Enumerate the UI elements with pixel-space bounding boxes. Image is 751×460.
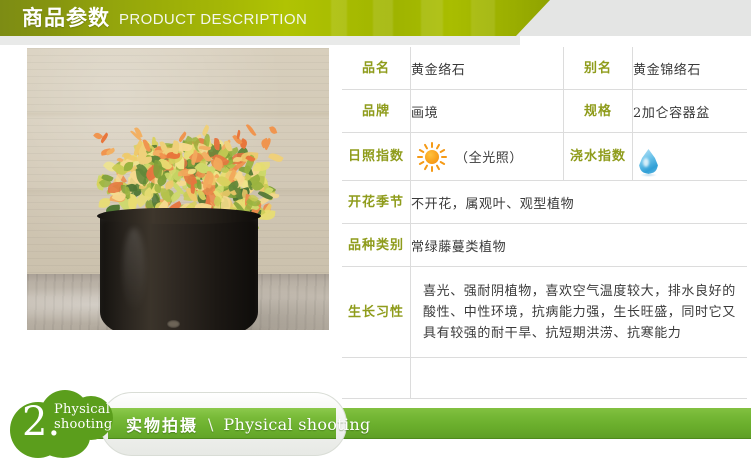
spec-value-name: 黄金络石 <box>411 47 564 90</box>
pot-rim <box>97 208 261 224</box>
spec-value-alias: 黄金锦络石 <box>633 47 748 90</box>
table-row: 品名 黄金络石 别名 黄金锦络石 <box>342 47 747 90</box>
spec-label-spec: 规格 <box>564 90 633 133</box>
banner-badge: 2. Physical shooting <box>6 390 132 458</box>
table-row: 生长习性 喜光、强耐阴植物，喜欢空气温度较大，排水良好的酸性、中性环境，抗病能力… <box>342 267 747 358</box>
spec-label-growth-habit: 生长习性 <box>342 267 411 358</box>
pot-highlight <box>123 228 145 314</box>
banner-label-en: Physical shooting <box>223 415 370 434</box>
banner-label: 实物拍摄 \ Physical shooting <box>126 412 371 436</box>
growth-habit-text: 喜光、强耐阴植物，喜欢空气温度较大，排水良好的酸性、中性环境，抗病能力强，生长旺… <box>411 277 747 348</box>
spec-value-bloom-season: 不开花，属观叶、观型植物 <box>411 181 748 224</box>
spec-label-category: 品种类别 <box>342 224 411 267</box>
spec-value-sunlight: （全光照） <box>411 133 564 181</box>
spec-label-alias: 别名 <box>564 47 633 90</box>
product-spec-table: 品名 黄金络石 别名 黄金锦络石 品牌 画境 规格 2加仑容器盆 日照指数 <box>342 47 747 399</box>
header-divider-right-gap <box>520 36 751 45</box>
spec-label-watering: 浇水指数 <box>564 133 633 181</box>
sun-icon <box>417 142 447 172</box>
spec-value-category: 常绿藤蔓类植物 <box>411 224 748 267</box>
table-row: 品种类别 常绿藤蔓类植物 <box>342 224 747 267</box>
spec-value-watering <box>633 133 748 181</box>
spec-label-brand: 品牌 <box>342 90 411 133</box>
spec-label-bloom-season: 开花季节 <box>342 181 411 224</box>
table-row: 品牌 画境 规格 2加仑容器盆 <box>342 90 747 133</box>
banner-label-slash: \ <box>208 415 213 434</box>
product-photo <box>27 48 329 330</box>
pot-drain-hole <box>167 320 180 328</box>
spec-value-brand: 画境 <box>411 90 564 133</box>
section-banner-physical-shooting: 2. Physical shooting 实物拍摄 \ Physical sho… <box>0 388 751 460</box>
banner-badge-subtitle: Physical shooting <box>54 402 132 432</box>
sunlight-note: （全光照） <box>455 147 523 166</box>
spec-value-spec: 2加仑容器盆 <box>633 90 748 133</box>
spec-label-sunlight: 日照指数 <box>342 133 411 181</box>
banner-badge-line2: shooting <box>54 417 112 432</box>
spec-value-growth-habit: 喜光、强耐阴植物，喜欢空气温度较大，排水良好的酸性、中性环境，抗病能力强，生长旺… <box>411 267 748 358</box>
page-title-cn: 商品参数 <box>22 8 110 29</box>
banner-badge-line1: Physical <box>54 402 110 417</box>
table-row: 日照指数 （全光照） 浇水指数 <box>342 133 747 181</box>
page-title: 商品参数 PRODUCT DESCRIPTION <box>22 0 307 36</box>
page-header-banner: 商品参数 PRODUCT DESCRIPTION <box>0 0 751 37</box>
table-row: 开花季节 不开花，属观叶、观型植物 <box>342 181 747 224</box>
banner-label-cn: 实物拍摄 <box>126 412 198 436</box>
spec-label-name: 品名 <box>342 47 411 90</box>
page-title-en: PRODUCT DESCRIPTION <box>119 12 307 27</box>
